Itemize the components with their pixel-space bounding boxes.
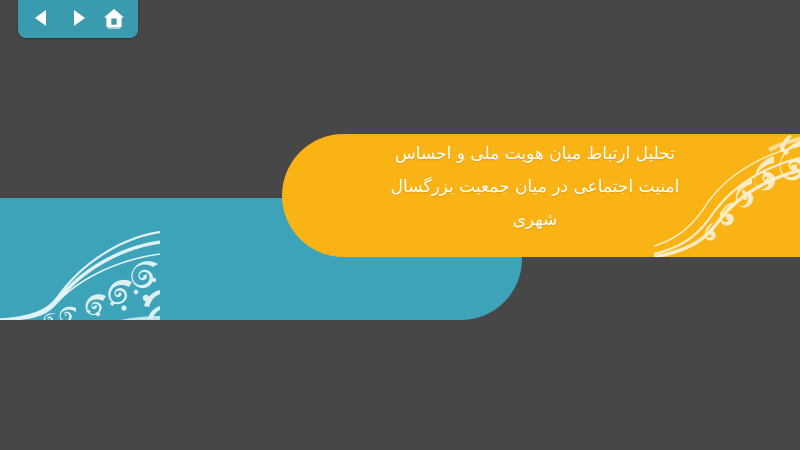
arabesque-ornament [654, 134, 800, 257]
back-button[interactable] [29, 6, 55, 30]
title-panel [282, 134, 800, 257]
slide-canvas: تحلیل ارتباط میان هویت ملی و احساس امنیت… [0, 0, 800, 450]
arabesque-ornament [0, 198, 160, 320]
forward-button[interactable] [65, 6, 91, 30]
forward-arrow-icon [68, 8, 88, 28]
home-button[interactable] [101, 6, 127, 30]
home-icon [103, 8, 125, 29]
back-arrow-icon [32, 8, 52, 28]
navigation-bar [18, 0, 138, 38]
